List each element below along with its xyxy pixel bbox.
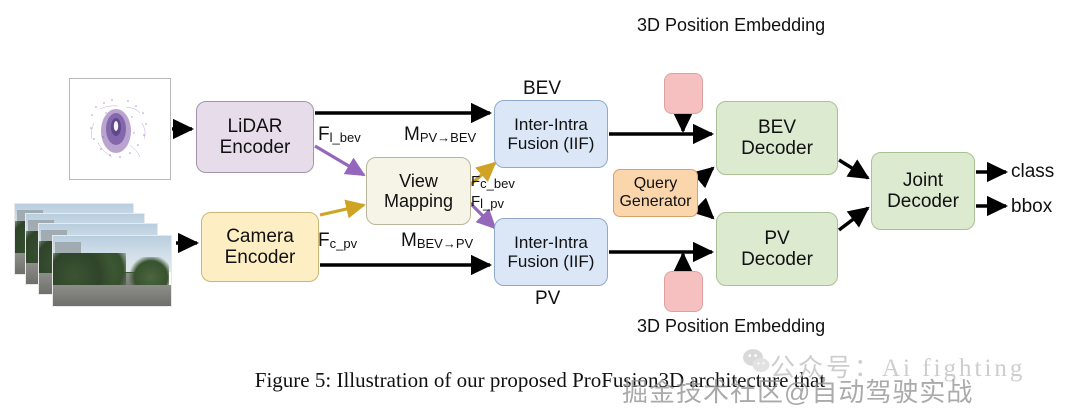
pv-decoder-line2: Decoder	[741, 249, 813, 270]
iif-bev-line2: Fusion (IIF)	[508, 134, 595, 153]
view-mapping-line1: View	[399, 171, 438, 191]
view-mapping-block: View Mapping	[366, 157, 471, 225]
figure-caption: Figure 5: Illustration of our proposed P…	[0, 368, 1080, 393]
lidar-encoder-line2: Encoder	[220, 137, 291, 158]
f-l-bev-base: F	[318, 124, 330, 145]
m-pv-bev-base: M	[404, 124, 420, 145]
pe-top-line2: Embedding	[734, 15, 825, 35]
output-bbox-label: bbox	[1011, 196, 1052, 218]
f-c-bev-base: F	[471, 173, 480, 190]
joint-decoder-line1: Joint	[903, 170, 943, 191]
query-generator-line2: Generator	[619, 193, 691, 211]
feature-label-f-c-bev: Fc_bev	[471, 173, 515, 191]
feature-label-f-c-pv: Fc_pv	[318, 230, 357, 252]
iif-pv-line1: Inter-Intra	[514, 233, 588, 252]
position-embedding-top-block	[664, 73, 703, 114]
pe-bot-line1: 3D Position	[637, 316, 729, 336]
pe-bot-line2: Embedding	[734, 316, 825, 336]
lidar-encoder-block: LiDAR Encoder	[196, 101, 314, 173]
query-generator-block: Query Generator	[613, 169, 698, 217]
f-c-pv-base: F	[318, 230, 330, 251]
m-bev-pv-base: M	[401, 230, 417, 251]
f-l-pv-sub: l_pv	[480, 196, 504, 211]
mapping-label-pv-to-bev: MPV→BEV	[404, 124, 476, 146]
position-embedding-bottom-label: 3D Position Embedding	[637, 315, 825, 338]
query-generator-line1: Query	[634, 175, 678, 193]
iif-pv-block: Inter-Intra Fusion (IIF)	[494, 218, 608, 286]
m-pv-bev-sub: PV→BEV	[420, 130, 476, 145]
pv-branch-label: PV	[535, 288, 560, 310]
feature-label-f-l-pv: Fl_pv	[471, 193, 504, 211]
position-embedding-bottom-block	[664, 271, 703, 312]
bev-decoder-line2: Decoder	[741, 138, 813, 159]
m-bev-pv-sub: BEV→PV	[417, 236, 473, 251]
lidar-encoder-line1: LiDAR	[228, 116, 283, 137]
joint-decoder-block: Joint Decoder	[871, 152, 975, 230]
f-l-pv-base: F	[471, 193, 480, 210]
joint-decoder-line2: Decoder	[887, 191, 959, 212]
bev-decoder-line1: BEV	[758, 117, 796, 138]
iif-pv-line2: Fusion (IIF)	[508, 252, 595, 271]
bev-decoder-block: BEV Decoder	[716, 101, 838, 175]
figure-canvas: LiDAR Encoder Camera Encoder View Mappin…	[0, 0, 1080, 415]
camera-encoder-line1: Camera	[226, 226, 294, 247]
position-embedding-top-label: 3D Position Embedding	[637, 14, 825, 37]
pe-top-line1: 3D Position	[637, 15, 729, 35]
iif-bev-block: Inter-Intra Fusion (IIF)	[494, 100, 608, 168]
feature-label-f-l-bev: Fl_bev	[318, 124, 361, 146]
mapping-label-bev-to-pv: MBEV→PV	[401, 230, 473, 252]
iif-bev-line1: Inter-Intra	[514, 115, 588, 134]
f-c-bev-sub: c_bev	[480, 176, 515, 191]
camera-encoder-line2: Encoder	[225, 247, 296, 268]
camera-image	[52, 235, 172, 307]
camera-encoder-block: Camera Encoder	[201, 212, 319, 282]
view-mapping-line2: Mapping	[384, 191, 453, 211]
pv-decoder-block: PV Decoder	[716, 212, 838, 286]
f-c-pv-sub: c_pv	[330, 236, 357, 251]
bev-branch-label: BEV	[523, 78, 561, 100]
f-l-bev-sub: l_bev	[330, 130, 361, 145]
output-class-label: class	[1011, 161, 1054, 183]
pv-decoder-line1: PV	[764, 228, 789, 249]
